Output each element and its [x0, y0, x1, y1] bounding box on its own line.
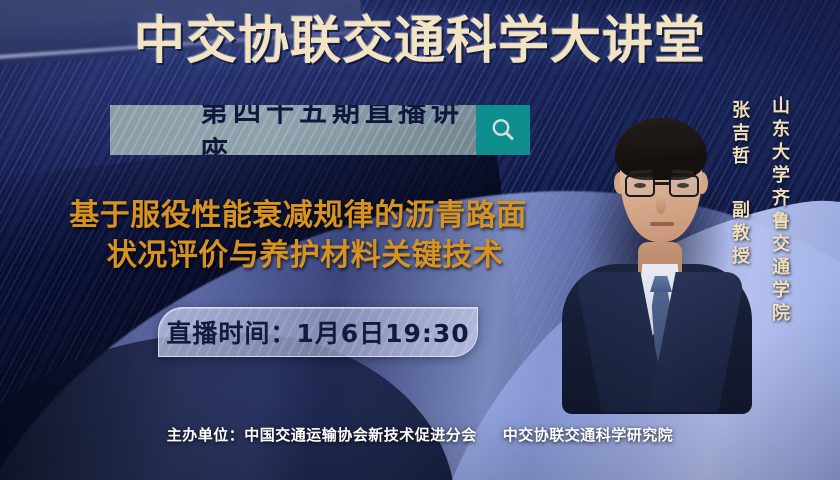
portrait-hair-fringe — [622, 130, 700, 156]
webinar-poster: 中交协联交通科学大讲堂 第四十五期直播讲座 基于服役性能衰减规律的沥青路面 状况… — [0, 0, 840, 480]
organizer-prefix: 主办单位： — [167, 424, 245, 445]
schedule-text: 直播时间：1月6日19:30 — [166, 314, 469, 350]
glasses-icon-left-lens — [625, 175, 655, 197]
organizer-footer: 主办单位：中国交通运输协会新技术促进分会中交协联交通科学研究院 — [0, 424, 840, 445]
lecture-topic-line2: 状况评价与养护材料关键技术 — [18, 236, 578, 276]
portrait-nose — [656, 196, 666, 214]
search-button[interactable] — [476, 105, 530, 155]
speaker-institution: 山东大学齐鲁交通学院 — [766, 96, 792, 326]
episode-banner: 第四十五期直播讲座 — [110, 105, 530, 155]
portrait-mouth — [650, 222, 674, 226]
glasses-icon-bridge — [655, 182, 669, 185]
speaker-name: 张吉哲 — [726, 100, 752, 169]
schedule-badge: 直播时间：1月6日19:30 — [158, 307, 478, 357]
episode-banner-fill: 第四十五期直播讲座 — [110, 105, 476, 155]
search-icon — [489, 116, 517, 144]
speaker-title: 副教授 — [726, 200, 752, 269]
organizer-name-1: 中国交通运输协会新技术促进分会 — [244, 424, 477, 445]
lecture-topic: 基于服役性能衰减规律的沥青路面 状况评价与养护材料关键技术 — [18, 196, 578, 275]
organizer-name-2: 中交协联交通科学研究院 — [503, 424, 674, 445]
lecture-topic-line1: 基于服役性能衰减规律的沥青路面 — [18, 196, 578, 236]
speaker-portrait — [566, 96, 744, 396]
glasses-icon-right-lens — [669, 175, 699, 197]
page-title: 中交协联交通科学大讲堂 — [0, 16, 840, 67]
episode-label: 第四十五期直播讲座 — [110, 105, 476, 155]
